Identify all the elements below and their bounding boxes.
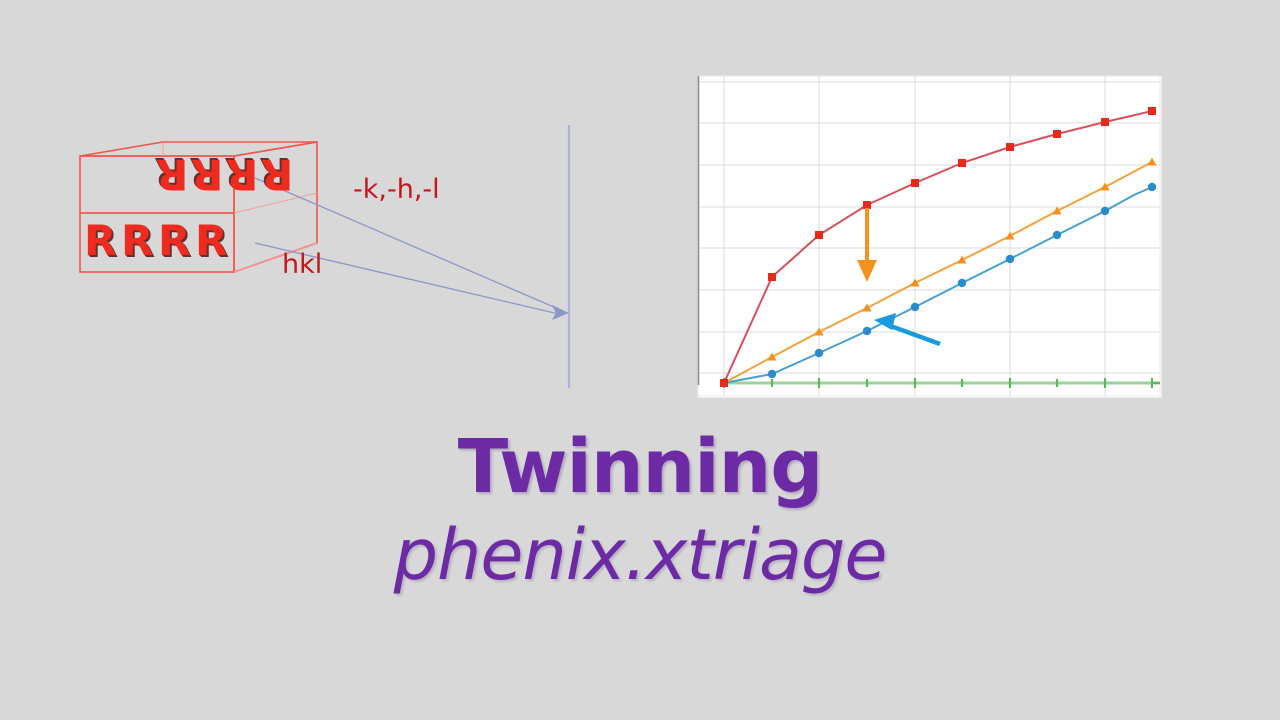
lattice-letter: R: [121, 220, 153, 262]
twin-lattice-diagram: R R R R R R R R -k,-h,-l hkl: [60, 125, 580, 415]
slide-canvas: R R R R R R R R -k,-h,-l hkl: [0, 0, 1280, 720]
lattice-letter: R: [195, 220, 227, 262]
lattice-letter: R: [226, 153, 258, 195]
label-minus-k-minus-h-minus-l: -k,-h,-l: [353, 174, 440, 205]
lattice-letter: R: [191, 153, 223, 195]
title-block: Twinning phenix.xtriage: [0, 425, 1280, 601]
twinning-intensity-chart: [692, 70, 1164, 400]
lattice-letter: R: [158, 220, 190, 262]
chart-svg: [692, 70, 1164, 400]
plot-frame: [698, 76, 1160, 396]
label-hkl: hkl: [282, 249, 322, 280]
page-title: Twinning: [0, 425, 1280, 509]
lattice-letter: R: [156, 153, 188, 195]
lattice-letter: R: [261, 153, 293, 195]
page-subtitle: phenix.xtriage: [0, 509, 1280, 601]
lattice-letter: R: [84, 220, 116, 262]
